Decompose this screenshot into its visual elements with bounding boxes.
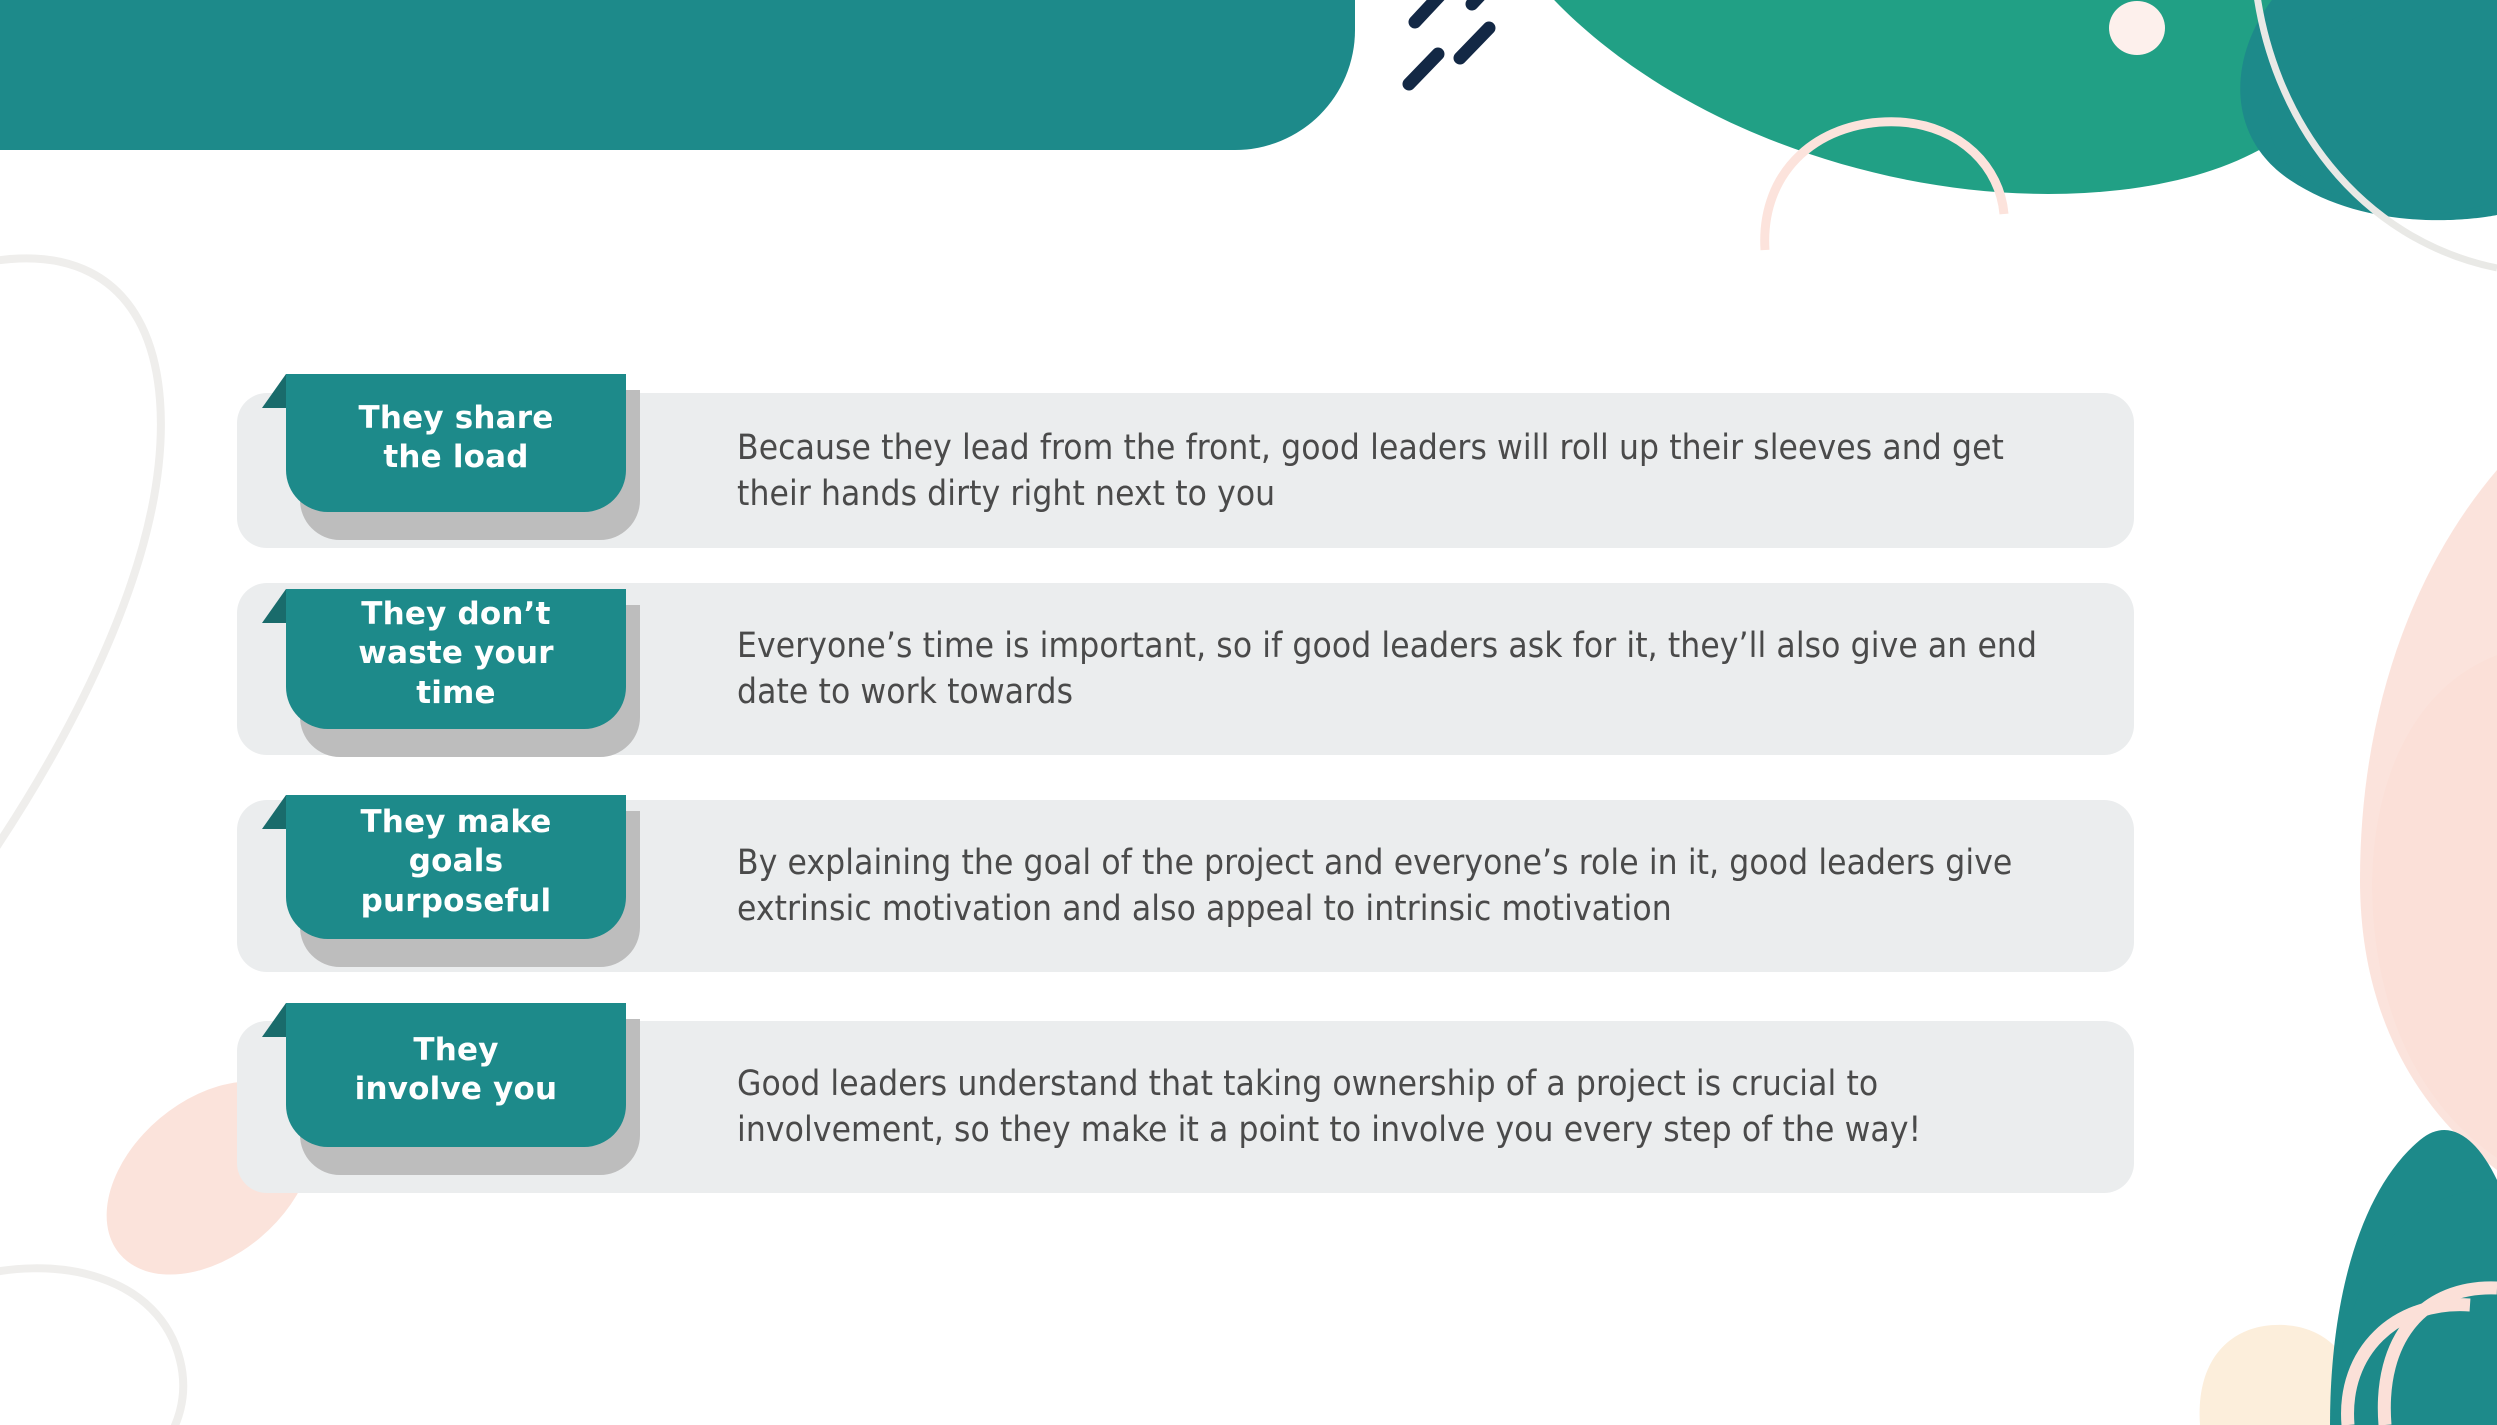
- slide-canvas: FIVE SIGNS THAT YOU'RE WORKING UNDER A G…: [0, 0, 2497, 1425]
- ribbon-body: They don’t waste your time: [286, 589, 626, 729]
- item-body-text: Because they lead from the front, good l…: [737, 424, 2074, 516]
- item-label-ribbon: They involve you: [286, 991, 626, 1147]
- ribbon-fold-left-icon: [262, 795, 286, 829]
- item-label-ribbon: They don’t waste your time: [286, 577, 626, 729]
- item-label-ribbon: They make goals purposeful: [286, 783, 626, 939]
- ribbon-fold-right-icon: [626, 374, 650, 408]
- item-label-text: They don’t waste your time: [358, 595, 554, 712]
- item-label-ribbon: They share the load: [286, 362, 626, 512]
- ribbon-fold-right-icon: [626, 795, 650, 829]
- ribbon-fold-left-icon: [262, 374, 286, 408]
- ribbon-fold-right-icon: [626, 1003, 650, 1037]
- item-body-text: Everyone’s time is important, so if good…: [737, 623, 2074, 715]
- ribbon-fold-left-icon: [262, 589, 286, 623]
- item-label-text: They make goals purposeful: [360, 803, 551, 920]
- ribbon-fold-left-icon: [262, 1003, 286, 1037]
- item-body-text: Good leaders understand that taking owne…: [737, 1061, 2074, 1153]
- item-label-text: They involve you: [355, 1031, 558, 1109]
- ribbon-body: They involve you: [286, 1003, 626, 1147]
- item-label-text: They share the load: [359, 399, 554, 477]
- ribbon-body: They make goals purposeful: [286, 795, 626, 939]
- ribbon-body: They share the load: [286, 374, 626, 512]
- ribbon-fold-right-icon: [626, 589, 650, 623]
- item-body-text: By explaining the goal of the project an…: [737, 840, 2074, 932]
- header-banner: [0, 0, 1355, 150]
- card-list: Because they lead from the front, good l…: [0, 0, 2497, 1425]
